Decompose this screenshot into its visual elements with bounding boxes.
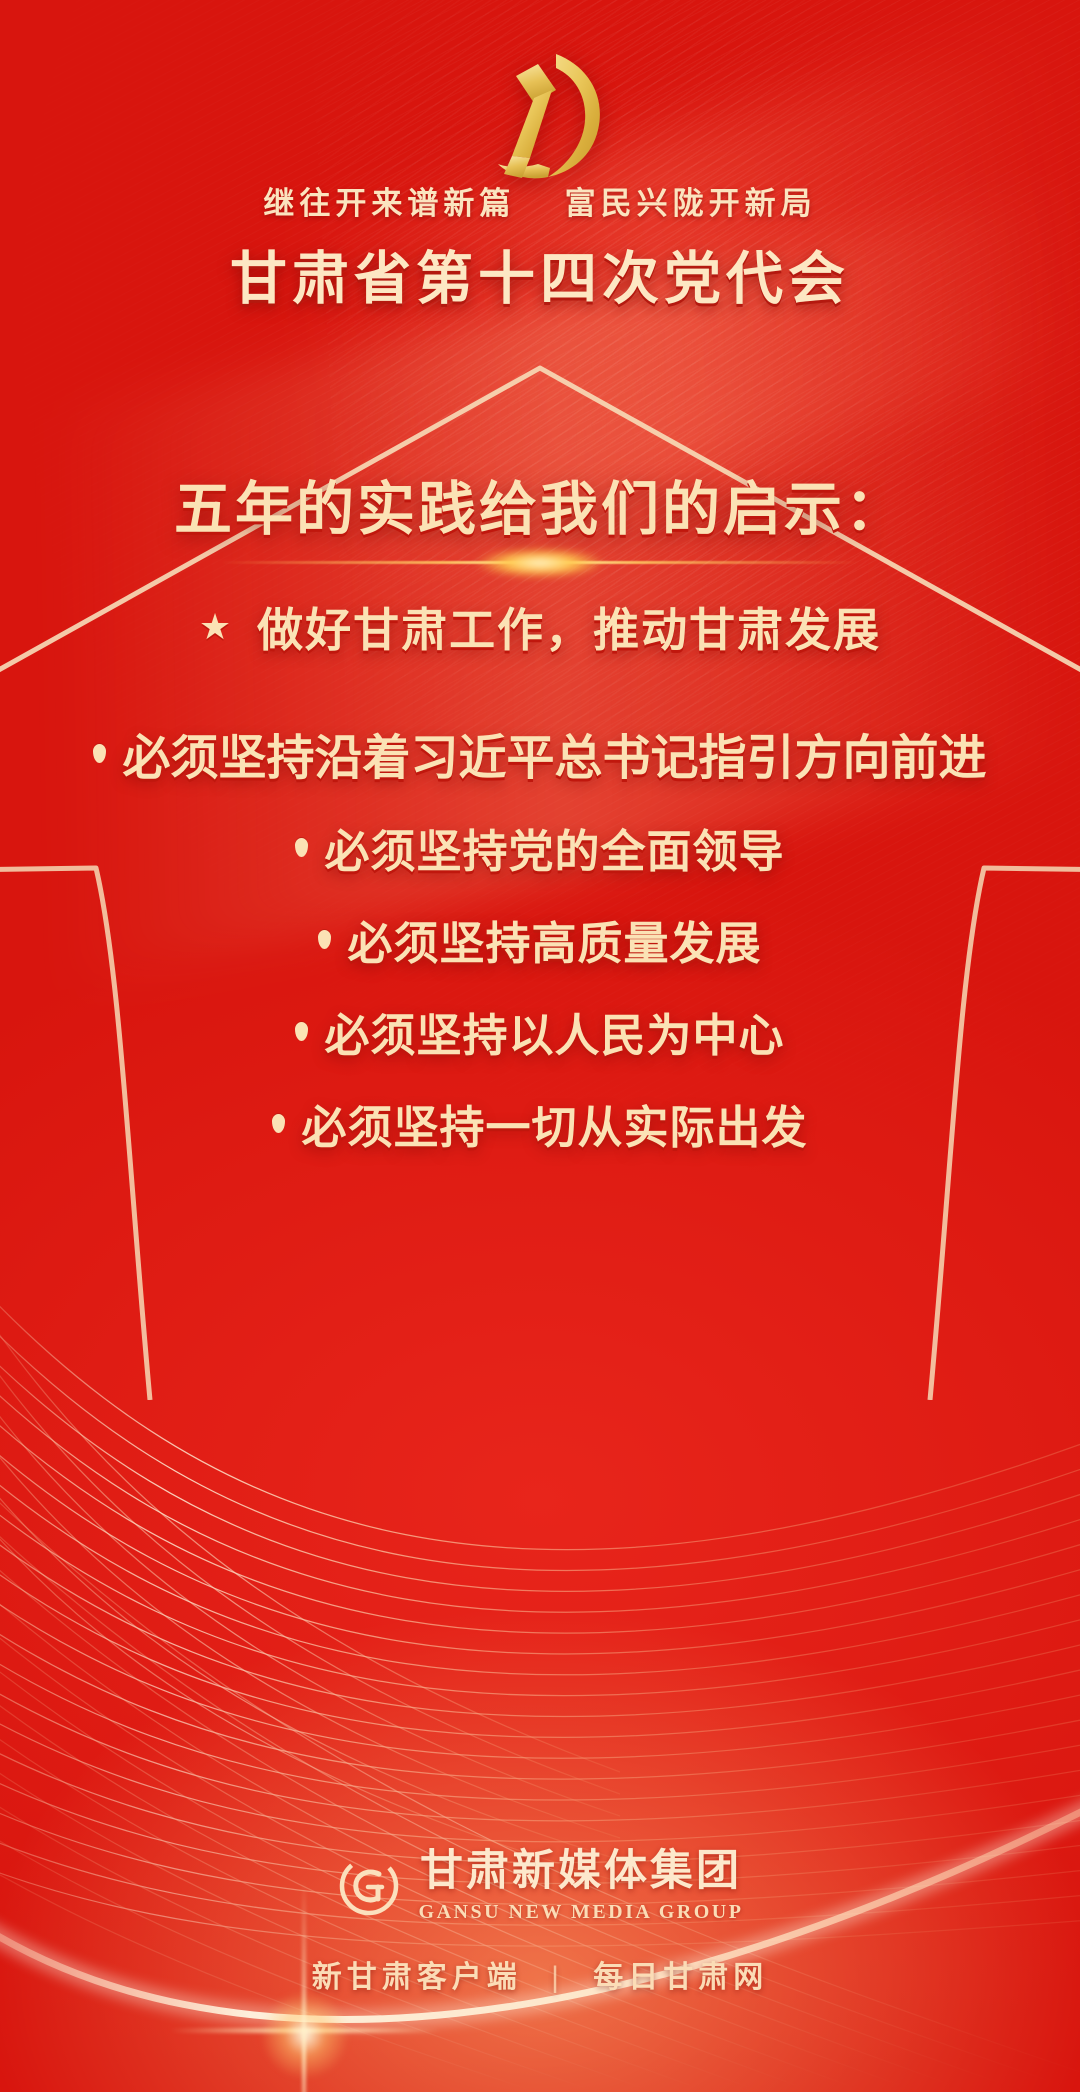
star-icon: ★ — [199, 609, 231, 645]
page-title: 甘肃省第十四次党代会 — [0, 233, 1080, 315]
droplet-bullet-icon — [295, 1022, 308, 1041]
list-item: 必须坚持一切从实际出发 — [0, 1091, 1080, 1156]
droplet-bullet-icon — [272, 1114, 285, 1133]
brand-row: 甘肃新媒体集团 GANSU NEW MEDIA GROUP — [0, 1849, 1080, 1924]
app-links-row: 新甘肃客户端 | 每日甘肃网 — [0, 1952, 1080, 1996]
poster-footer: 甘肃新媒体集团 GANSU NEW MEDIA GROUP 新甘肃客户端 | 每… — [0, 1849, 1080, 1996]
list-item: 必须坚持党的全面领导 — [0, 815, 1080, 880]
droplet-bullet-icon — [295, 838, 308, 857]
list-item-label: 必须坚持沿着习近平总书记指引方向前进 — [122, 718, 986, 788]
brand-text-block: 甘肃新媒体集团 GANSU NEW MEDIA GROUP — [419, 1849, 744, 1924]
header-subtitle: 继往开来谱新篇 富民兴陇开新局 — [0, 178, 1080, 223]
main-headline: 五年的实践给我们的启示： — [0, 462, 1080, 546]
subtitle-right: 富民兴陇开新局 — [565, 186, 817, 221]
brand-name-en: GANSU NEW MEDIA GROUP — [419, 1901, 744, 1924]
list-item-label: 必须坚持一切从实际出发 — [301, 1091, 807, 1156]
glow-divider-core — [475, 548, 605, 578]
lens-flare-core — [260, 1990, 350, 2080]
glow-divider-line — [220, 561, 860, 564]
lens-flare-sparkle — [300, 2030, 310, 2040]
list-item: 必须坚持沿着习近平总书记指引方向前进 — [0, 718, 1080, 788]
poster-root: 继往开来谱新篇 富民兴陇开新局 甘肃省第十四次党代会 五年的实践给我们的启示： … — [0, 0, 1080, 2092]
star-highlight-item: ★ 做好甘肃工作，推动甘肃发展 — [0, 594, 1080, 660]
bullet-list: 必须坚持沿着习近平总书记指引方向前进 必须坚持党的全面领导 必须坚持高质量发展 … — [0, 718, 1080, 1183]
poster-header: 继往开来谱新篇 富民兴陇开新局 甘肃省第十四次党代会 — [0, 178, 1080, 315]
list-item-label: 必须坚持以人民为中心 — [324, 999, 784, 1064]
star-item-label: 做好甘肃工作，推动甘肃发展 — [257, 594, 881, 660]
list-item: 必须坚持高质量发展 — [0, 907, 1080, 972]
subtitle-left: 继往开来谱新篇 — [263, 186, 515, 221]
list-item-label: 必须坚持高质量发展 — [347, 907, 761, 972]
droplet-bullet-icon — [93, 744, 106, 763]
app-link-left[interactable]: 新甘肃客户端 — [312, 1961, 522, 1994]
glow-divider — [220, 540, 860, 586]
gansu-new-media-logo-icon — [337, 1854, 401, 1918]
list-item: 必须坚持以人民为中心 — [0, 999, 1080, 1064]
brand-name-cn: 甘肃新媒体集团 — [419, 1849, 744, 1894]
list-item-label: 必须坚持党的全面领导 — [324, 815, 784, 880]
app-link-separator: | — [551, 1961, 564, 1994]
hammer-and-sickle-emblem — [460, 46, 620, 186]
app-link-right[interactable]: 每日甘肃网 — [593, 1961, 768, 1994]
droplet-bullet-icon — [318, 930, 331, 949]
